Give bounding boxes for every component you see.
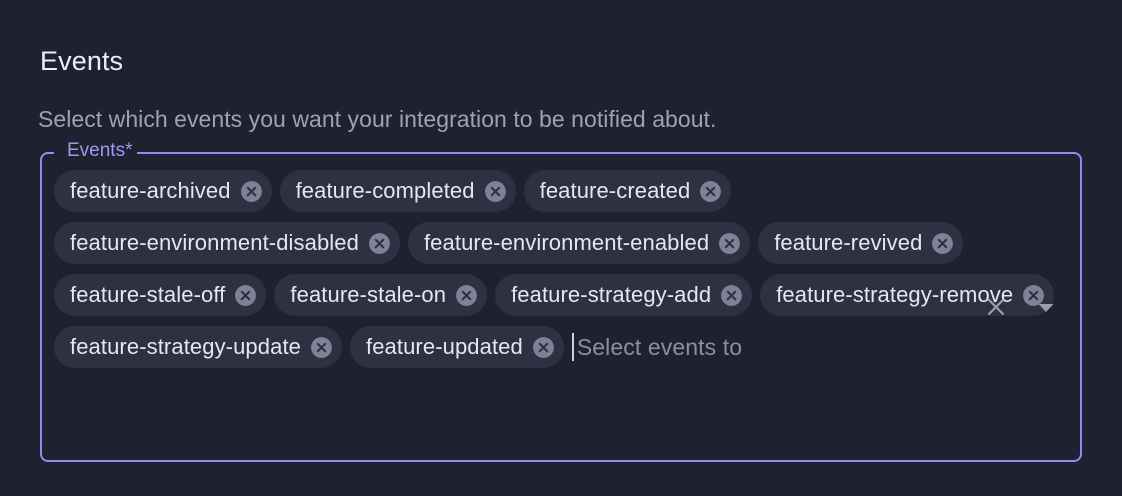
field-legend-label: Events* xyxy=(62,140,137,162)
chip-label: feature-stale-on xyxy=(290,284,454,306)
chip[interactable]: feature-created xyxy=(524,170,732,212)
chip[interactable]: feature-archived xyxy=(54,170,272,212)
cancel-circle-icon[interactable] xyxy=(483,179,508,204)
chip[interactable]: feature-updated xyxy=(350,326,564,368)
clear-button[interactable] xyxy=(982,293,1010,321)
chip-label: feature-environment-enabled xyxy=(424,232,717,254)
chip-label: feature-strategy-update xyxy=(70,336,309,358)
cancel-circle-icon[interactable] xyxy=(239,179,264,204)
chip[interactable]: feature-environment-enabled xyxy=(408,222,750,264)
chip-label: feature-created xyxy=(540,180,699,202)
chip[interactable]: feature-environment-disabled xyxy=(54,222,400,264)
field-adornments xyxy=(982,293,1060,321)
input-placeholder: Select events to xyxy=(574,334,742,361)
chip-label: feature-archived xyxy=(70,180,239,202)
chip[interactable]: feature-stale-off xyxy=(54,274,266,316)
dropdown-button[interactable] xyxy=(1032,293,1060,321)
chip-label: feature-strategy-add xyxy=(511,284,719,306)
chip-label: feature-environment-disabled xyxy=(70,232,367,254)
cancel-circle-icon[interactable] xyxy=(233,283,258,308)
chip[interactable]: feature-revived xyxy=(758,222,963,264)
clear-icon xyxy=(982,293,1010,321)
events-search-input[interactable]: Select events to xyxy=(572,326,1068,368)
cancel-circle-icon[interactable] xyxy=(309,335,334,360)
cancel-circle-icon[interactable] xyxy=(719,283,744,308)
cancel-circle-icon[interactable] xyxy=(454,283,479,308)
selected-chips-area[interactable]: feature-archivedfeature-completedfeature… xyxy=(40,152,1082,462)
chip-label: feature-updated xyxy=(366,336,531,358)
cancel-circle-icon[interactable] xyxy=(367,231,392,256)
events-settings-panel: Events Select which events you want your… xyxy=(0,0,1122,496)
cancel-circle-icon[interactable] xyxy=(531,335,556,360)
chip[interactable]: feature-strategy-update xyxy=(54,326,342,368)
chip-label: feature-completed xyxy=(296,180,483,202)
page-subtitle: Select which events you want your integr… xyxy=(38,105,716,134)
chip[interactable]: feature-completed xyxy=(280,170,516,212)
cancel-circle-icon[interactable] xyxy=(930,231,955,256)
page-title: Events xyxy=(40,45,123,77)
cancel-circle-icon[interactable] xyxy=(698,179,723,204)
chip-label: feature-stale-off xyxy=(70,284,233,306)
dropdown-arrow-icon xyxy=(1034,295,1058,319)
chip[interactable]: feature-strategy-add xyxy=(495,274,752,316)
chip-label: feature-revived xyxy=(774,232,930,254)
chip[interactable]: feature-stale-on xyxy=(274,274,487,316)
events-multiselect-field[interactable]: Events* feature-archivedfeature-complete… xyxy=(40,152,1082,462)
cancel-circle-icon[interactable] xyxy=(717,231,742,256)
